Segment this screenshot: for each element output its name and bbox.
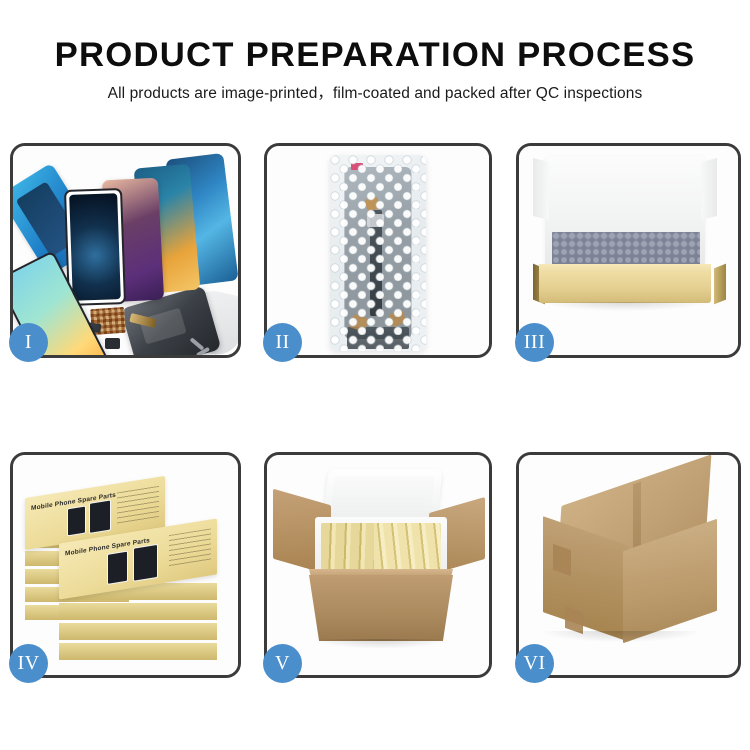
step-panel-iv[interactable]: Mobile Phone Spare Parts Mobile Phone Sp… [10, 452, 241, 678]
box-right-side [714, 264, 726, 305]
step-badge-v: V [263, 644, 302, 683]
carton-front-face [309, 575, 453, 641]
sealed-carton-shadow [541, 631, 701, 642]
bubble-wrap-bag [330, 155, 426, 351]
step-panel-ii[interactable]: II [264, 143, 492, 358]
box-screen-thumb-1 [67, 505, 86, 536]
step-panel-vi[interactable]: VI [516, 452, 741, 678]
step-panel-v[interactable]: V [264, 452, 492, 678]
step-image-ii [267, 146, 489, 355]
steps-grid: I II [0, 0, 750, 750]
product-preparation-infographic: PRODUCT PREPARATION PROCESS All products… [0, 0, 750, 750]
part-square-c [105, 338, 120, 349]
stacked-box-i2 [59, 643, 217, 660]
step-badge-i: I [9, 323, 48, 362]
step-panel-iii[interactable]: III [516, 143, 741, 358]
carton-top-seam [633, 482, 641, 551]
box-screen-thumb-4 [133, 544, 158, 582]
packed-boxes-right [374, 523, 441, 573]
box-screen-thumb-3 [107, 551, 128, 585]
bubble-texture [330, 155, 426, 351]
step-badge-iv: IV [9, 644, 48, 683]
carton-shadow [313, 639, 449, 649]
phone-white-frame [64, 188, 126, 306]
box-shadow [543, 302, 707, 311]
sealed-carton [537, 481, 721, 633]
step-image-iii [519, 146, 738, 355]
step-badge-iii: III [515, 323, 554, 362]
box-spec-lines-2 [169, 528, 211, 569]
packed-boxes-area [321, 523, 441, 573]
stacked-box-g [59, 603, 217, 620]
step-badge-ii: II [263, 323, 302, 362]
stacked-box-h [59, 623, 217, 640]
box-front-face [539, 272, 711, 303]
step-image-iv: Mobile Phone Spare Parts Mobile Phone Sp… [13, 455, 238, 675]
step-image-vi [519, 455, 738, 675]
box-stack: Mobile Phone Spare Parts Mobile Phone Sp… [19, 471, 233, 661]
box-spec-lines-1 [117, 486, 159, 527]
box-screen-thumb-2 [89, 499, 111, 533]
step-image-i [13, 146, 238, 355]
step-badge-vi: VI [515, 644, 554, 683]
step-panel-i[interactable]: I [10, 143, 241, 358]
step-image-v [267, 455, 489, 675]
